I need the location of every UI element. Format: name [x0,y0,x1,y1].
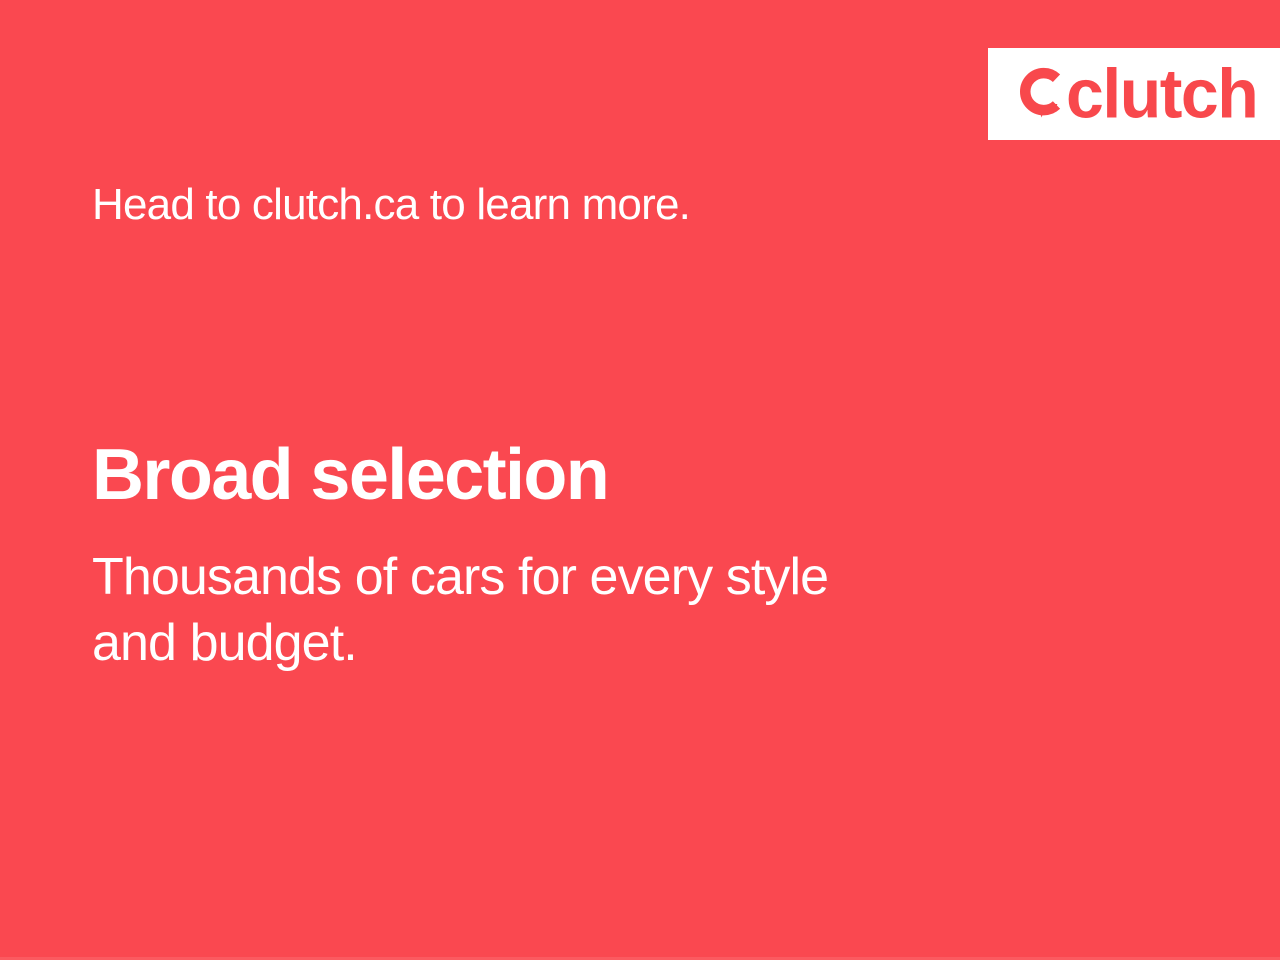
subtitle-text: Thousands of cars for every style and bu… [92,545,1022,676]
marketing-slide: clutch Head to clutch.ca to learn more. … [0,0,1280,960]
eyebrow-text: Head to clutch.ca to learn more. [92,180,690,229]
brand-logo-plate: clutch [988,48,1280,140]
brand-logo-lockup: clutch [1018,60,1257,128]
subtitle-line-1: Thousands of cars for every style [92,545,1022,611]
page-title: Broad selection [92,437,608,515]
clutch-c-mark-icon [1018,66,1064,122]
brand-wordmark: clutch [1066,59,1257,128]
subtitle-line-2: and budget. [92,611,1022,677]
